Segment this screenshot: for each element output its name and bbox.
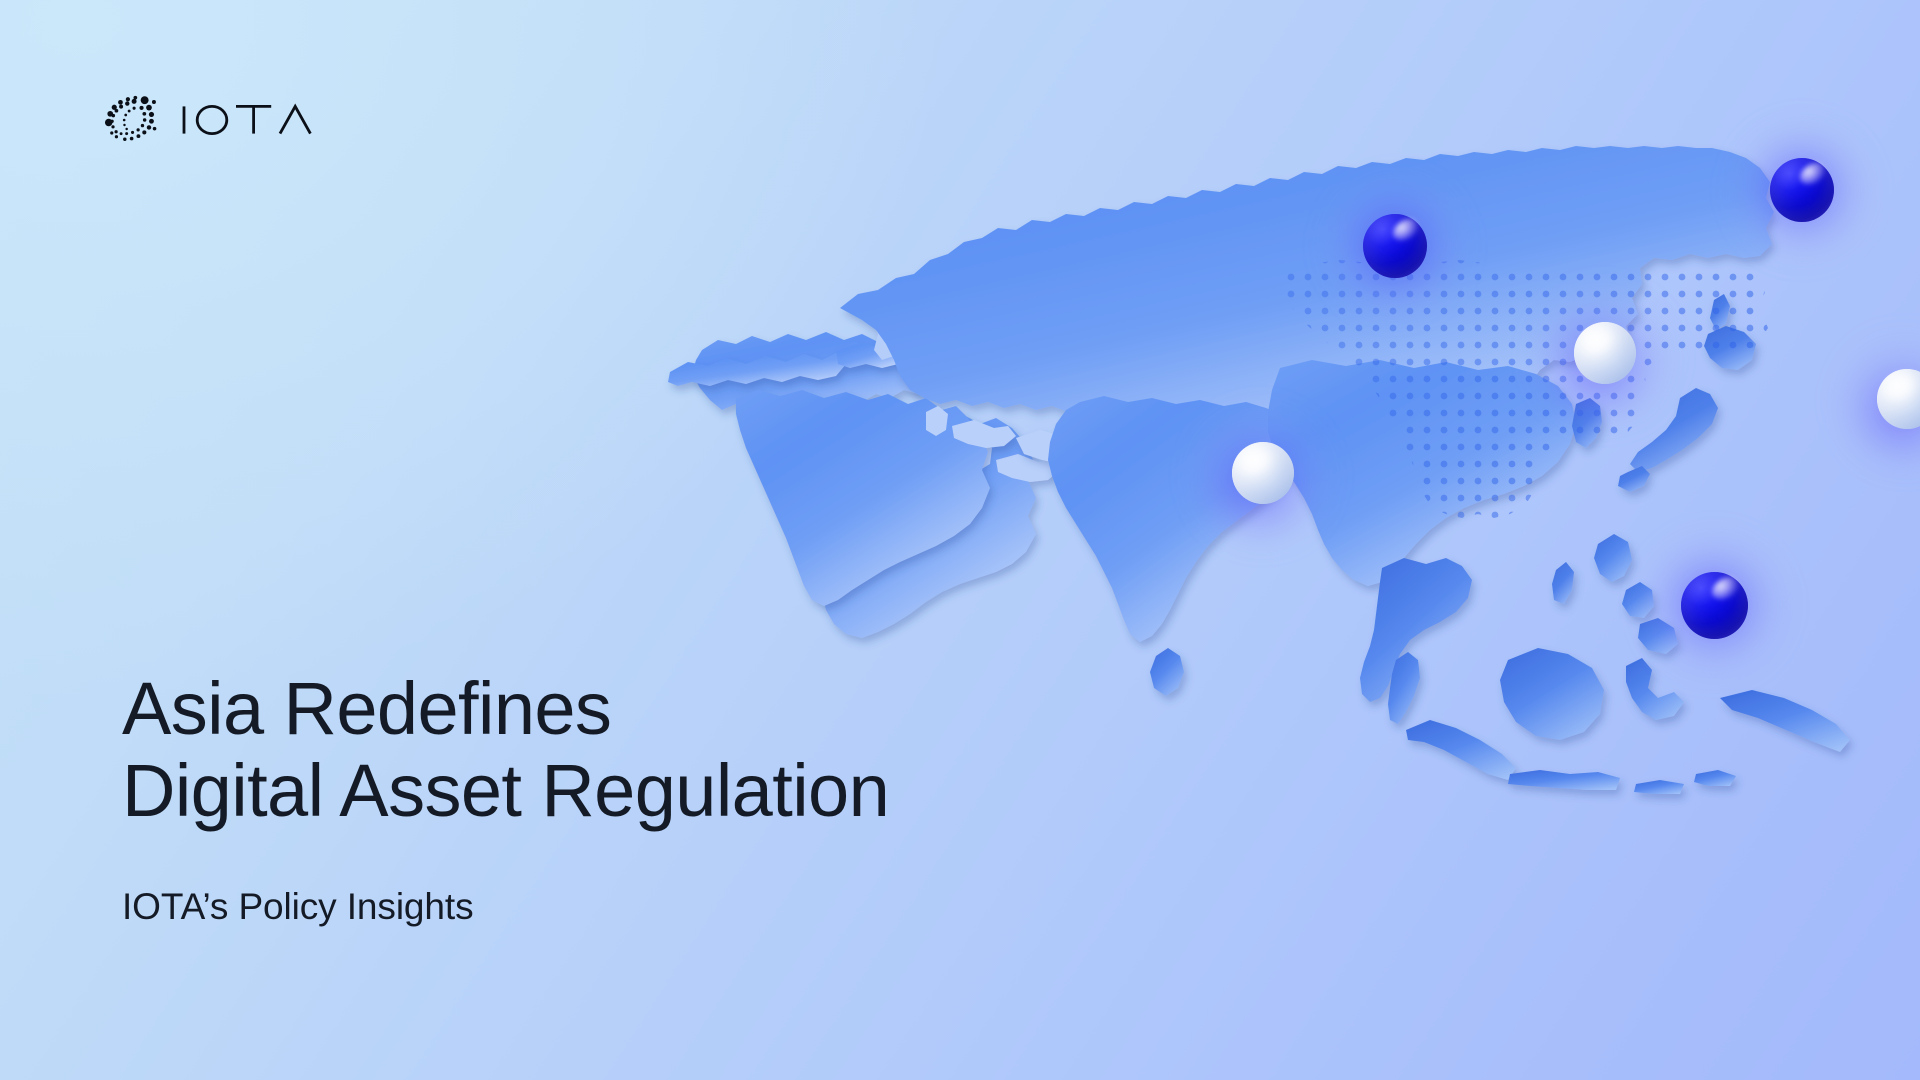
iota-dot-spiral-icon xyxy=(100,89,162,151)
marker-ball xyxy=(1574,322,1636,384)
marker-ball xyxy=(1232,442,1294,504)
marker-ball xyxy=(1363,214,1427,278)
text-block: Asia Redefines Digital Asset Regulation … xyxy=(122,668,1182,928)
marker-kazakhstan[interactable] xyxy=(1363,214,1427,278)
marker-singapore[interactable] xyxy=(1681,572,1748,639)
page-title: Asia Redefines Digital Asset Regulation xyxy=(122,668,1182,832)
marker-china[interactable] xyxy=(1574,322,1636,384)
marker-mongolia[interactable] xyxy=(1770,158,1834,222)
asia-map xyxy=(640,68,1900,768)
iota-logo[interactable] xyxy=(100,88,324,152)
marker-ball xyxy=(1770,158,1834,222)
marker-ball xyxy=(1681,572,1748,639)
marker-gulf[interactable] xyxy=(1232,442,1294,504)
iota-wordmark xyxy=(180,100,324,140)
poster-canvas: Asia Redefines Digital Asset Regulation … xyxy=(0,0,1920,1080)
page-subtitle: IOTA’s Policy Insights xyxy=(122,886,1182,928)
